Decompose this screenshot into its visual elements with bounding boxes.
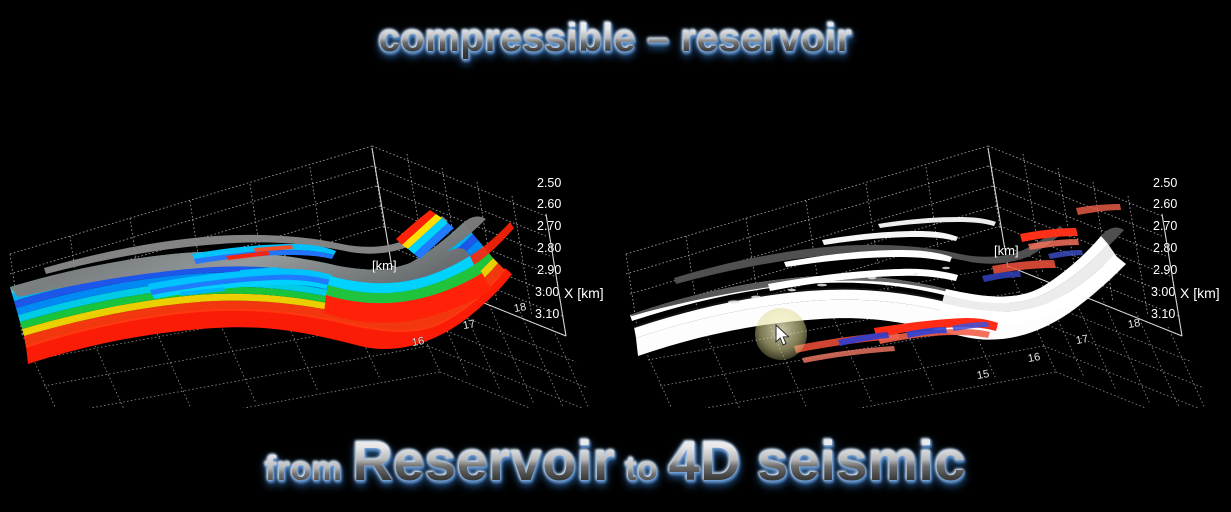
depth-axis-label: [km]	[994, 243, 1019, 258]
z-tick-2-70: 2.70	[537, 219, 561, 233]
z-tick-2-90: 2.90	[537, 263, 561, 277]
footer-word-to: to	[625, 436, 658, 502]
screenshot-root: compressible – reservoir	[0, 0, 1231, 512]
z-tick-2-90: 2.90	[1153, 263, 1177, 277]
4d-seismic-canvas	[616, 78, 1231, 408]
x-axis-label: X [km]	[1180, 285, 1220, 301]
reservoir-model-canvas	[0, 78, 615, 408]
plot-reservoir-model[interactable]: 2.50 2.60 2.70 2.80 2.90 3.00 3.10 X [km…	[0, 78, 615, 408]
x-tick-16: 16	[1027, 351, 1041, 365]
x-axis-label: X [km]	[564, 285, 604, 301]
x-tick-16: 16	[411, 335, 425, 349]
x-tick-17: 17	[462, 318, 476, 332]
z-tick-2-70: 2.70	[1153, 219, 1177, 233]
z-tick-3-10: 3.10	[535, 307, 559, 321]
z-tick-2-60: 2.60	[1153, 197, 1177, 211]
z-tick-2-60: 2.60	[537, 197, 561, 211]
x-tick-17: 17	[1075, 333, 1089, 347]
x-tick-18: 18	[513, 301, 527, 315]
z-tick-2-50: 2.50	[537, 176, 561, 190]
x-tick-15: 15	[976, 368, 990, 382]
z-tick-3-10: 3.10	[1151, 307, 1175, 321]
x-tick-18: 18	[1127, 317, 1141, 331]
footer-word-from: from	[265, 436, 343, 502]
footer-tagline: fromReservoirto4D seismic	[0, 428, 1231, 509]
depth-axis-label: [km]	[372, 258, 397, 273]
footer-word-4d-seismic: 4D seismic	[668, 428, 966, 494]
page-title: compressible – reservoir	[0, 16, 1231, 62]
plot-4d-seismic[interactable]: 2.50 2.60 2.70 2.80 2.90 3.00 3.10 X [km…	[616, 78, 1231, 408]
z-tick-3-00: 3.00	[1151, 285, 1175, 299]
z-tick-2-80: 2.80	[1153, 241, 1177, 255]
footer-word-reservoir: Reservoir	[352, 428, 615, 494]
z-tick-2-50: 2.50	[1153, 176, 1177, 190]
z-tick-3-00: 3.00	[535, 285, 559, 299]
z-tick-2-80: 2.80	[537, 241, 561, 255]
